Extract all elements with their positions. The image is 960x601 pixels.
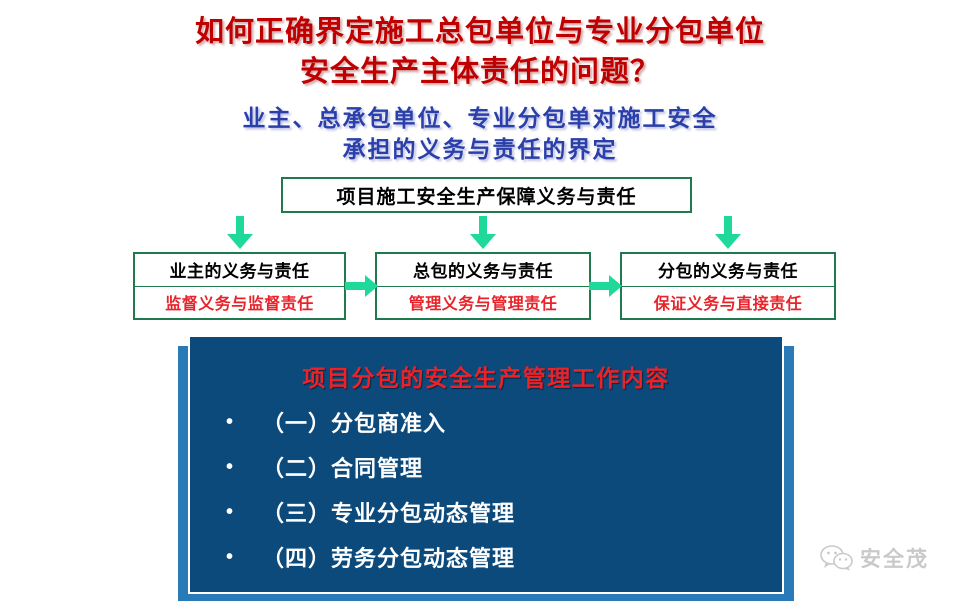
list-item: • （一）分包商准入 — [190, 399, 782, 444]
bullet-dot-icon: • — [210, 547, 250, 567]
arrow-right-icon — [589, 274, 623, 298]
bullet-dot-icon: • — [210, 412, 250, 432]
flow-box-subcontractor-duty: 保证义务与直接责任 — [622, 287, 834, 319]
flow-box-owner: 业主的义务与责任 监督义务与监督责任 — [133, 252, 346, 320]
flow-top-box-label: 项目施工安全生产保障义务与责任 — [336, 182, 636, 209]
list-item-label: （二）合同管理 — [262, 451, 423, 483]
flow-top-box: 项目施工安全生产保障义务与责任 — [281, 177, 692, 213]
list-item-label: （一）分包商准入 — [262, 406, 446, 438]
wechat-icon — [820, 545, 854, 571]
arrow-right-icon — [345, 274, 379, 298]
list-item-label: （三）专业分包动态管理 — [262, 496, 515, 528]
content-panel: 项目分包的安全生产管理工作内容 • （一）分包商准入 • （二）合同管理 • （… — [190, 337, 782, 592]
list-item-label: （四）劳务分包动态管理 — [262, 541, 515, 573]
list-item: • （三）专业分包动态管理 — [190, 489, 782, 534]
slide-canvas: 如何正确界定施工总包单位与专业分包单位 安全生产主体责任的问题？ 业主、总承包单… — [0, 0, 960, 601]
content-bullet-list: • （一）分包商准入 • （二）合同管理 • （三）专业分包动态管理 • （四）… — [190, 399, 782, 579]
flow-box-general-contractor-duty: 管理义务与管理责任 — [377, 287, 589, 319]
bullet-dot-icon: • — [210, 502, 250, 522]
watermark-label: 安全茂 — [860, 543, 929, 573]
list-item: • （二）合同管理 — [190, 444, 782, 489]
flow-box-owner-duty: 监督义务与监督责任 — [135, 287, 344, 319]
list-item: • （四）劳务分包动态管理 — [190, 534, 782, 579]
flow-box-subcontractor: 分包的义务与责任 保证义务与直接责任 — [620, 252, 836, 320]
arrow-down-icon — [714, 216, 742, 250]
flow-box-general-contractor: 总包的义务与责任 管理义务与管理责任 — [375, 252, 591, 320]
flow-diagram: 项目施工安全生产保障义务与责任 业主的义务与责任 监督义务与监督责任 总包的义务… — [0, 0, 960, 330]
arrow-down-icon — [469, 216, 497, 250]
arrow-down-icon — [226, 216, 254, 250]
flow-box-general-contractor-title: 总包的义务与责任 — [377, 254, 589, 287]
watermark: 安全茂 — [820, 535, 950, 580]
flow-box-owner-title: 业主的义务与责任 — [135, 254, 344, 287]
content-panel-heading: 项目分包的安全生产管理工作内容 — [190, 359, 782, 393]
bullet-dot-icon: • — [210, 457, 250, 477]
flow-box-subcontractor-title: 分包的义务与责任 — [622, 254, 834, 287]
